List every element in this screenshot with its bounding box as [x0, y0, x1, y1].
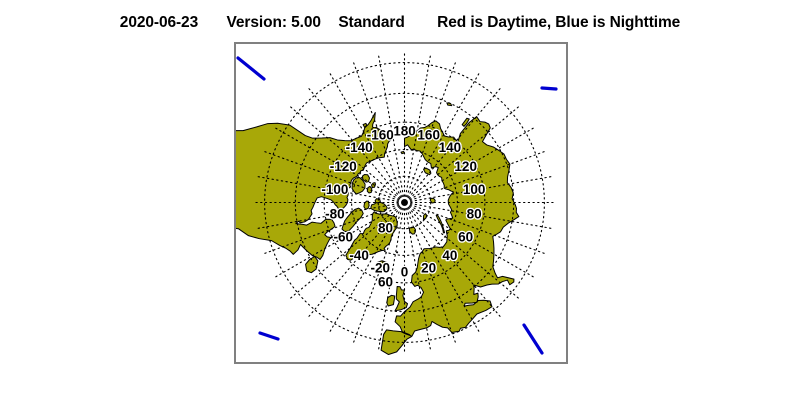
lon-label--40: -40: [349, 248, 369, 263]
lon-label--120: -120: [330, 159, 357, 174]
screenshot-root: 2020-06-23 Version: 5.00 Standard Red is…: [0, 0, 800, 400]
map-canvas: 020406080100120140160180-160-140-120-100…: [236, 44, 566, 362]
lon-label-160: 160: [417, 128, 440, 143]
title-product: Standard: [338, 14, 404, 31]
title-date: 2020-06-23: [120, 14, 198, 31]
title-version: Version: 5.00: [227, 14, 321, 31]
landmass-jan_mayen: [397, 252, 398, 253]
lon-label-80: 80: [467, 206, 482, 221]
lon-label--60: -60: [334, 229, 354, 244]
lon-label-180: 180: [393, 123, 416, 138]
lon-label-120: 120: [454, 159, 477, 174]
lon-label-140: 140: [439, 140, 462, 155]
lon-label--20: -20: [371, 260, 391, 275]
title-legend: Red is Daytime, Blue is Nighttime: [437, 14, 680, 31]
lat-label-60: 60: [378, 274, 393, 289]
lon-label-100: 100: [463, 182, 486, 197]
lon-label-60: 60: [458, 229, 473, 244]
lat-label-80: 80: [378, 220, 393, 235]
terminator-upper-right: [542, 88, 556, 89]
lon-label--80: -80: [325, 206, 345, 221]
landmass-melville: [367, 186, 372, 193]
lon-label-0: 0: [401, 265, 409, 280]
lon-label-20: 20: [421, 260, 436, 275]
lon-label--100: -100: [321, 182, 348, 197]
lon-label-40: 40: [442, 248, 457, 263]
arctic-map[interactable]: 020406080100120140160180-160-140-120-100…: [234, 42, 568, 364]
page-title: 2020-06-23 Version: 5.00 Standard Red is…: [0, 14, 800, 32]
lon-label--140: -140: [346, 140, 373, 155]
